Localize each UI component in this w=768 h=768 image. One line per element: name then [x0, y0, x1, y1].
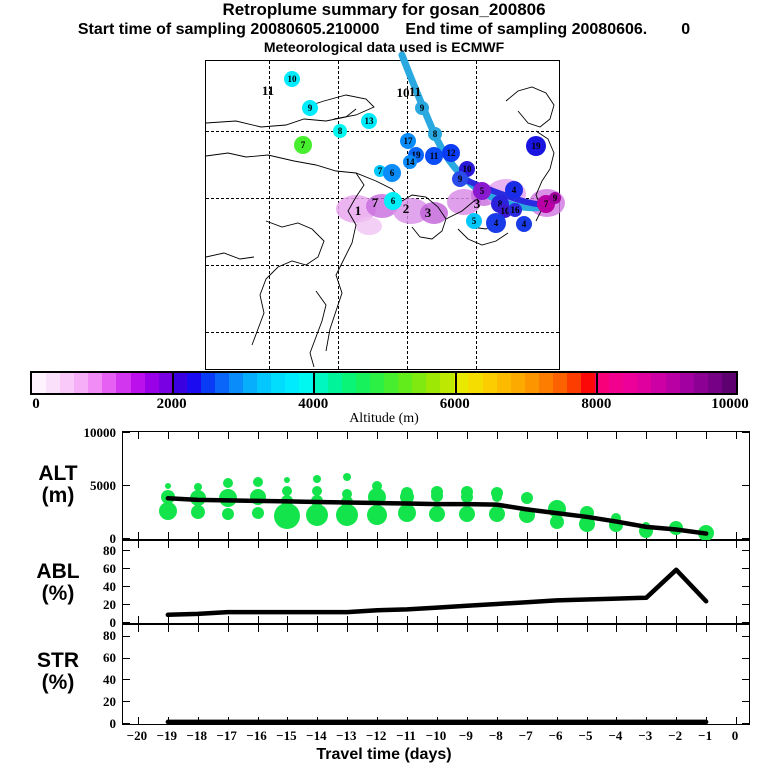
colorbar-swatch [651, 373, 665, 393]
map-day-marker: 12 [442, 144, 460, 162]
x-tick-label: −9 [459, 728, 473, 744]
map-day-label: 11 [262, 83, 274, 99]
x-tick-label: −5 [579, 728, 593, 744]
str-panel [122, 624, 750, 725]
colorbar-swatch [497, 373, 511, 393]
x-tick-label: −14 [306, 728, 326, 744]
map-day-label: 3 [425, 205, 432, 221]
colorbar-swatch [666, 373, 680, 393]
y-tick-label: 40 [68, 672, 116, 688]
y-tick-label: 10000 [68, 425, 116, 441]
colorbar-swatch [187, 373, 201, 393]
colorbar-swatch [708, 373, 722, 393]
map-coastline [206, 253, 254, 259]
map-day-marker: 8 [428, 127, 442, 141]
map-day-marker: 9 [549, 192, 561, 204]
start-time-value: 20080605.210000 [250, 21, 379, 38]
end-time-label: End time of sampling [405, 21, 567, 38]
y-tickmark-right [742, 723, 749, 724]
map-day-marker: 6 [383, 164, 401, 182]
map-day-marker: 16 [508, 203, 522, 217]
map-day-label: 3 [474, 196, 481, 212]
map-day-marker: 4 [486, 213, 506, 233]
colorbar-swatch [229, 373, 243, 393]
map-day-marker: 4 [505, 181, 523, 199]
y-tick-label: 0 [68, 716, 116, 732]
alt-series-layer [123, 432, 748, 538]
y-tick-label: 40 [68, 579, 116, 595]
x-tick-label: −16 [246, 728, 266, 744]
start-time-label: Start time of sampling [78, 21, 246, 38]
x-tick-label: −1 [698, 728, 712, 744]
map-day-label: 2 [403, 201, 410, 217]
colorbar-swatch [511, 373, 525, 393]
page-title: Retroplume summary for gosan_200806 [0, 0, 768, 20]
colorbar-swatch [88, 373, 102, 393]
retroplume-map: 1110981371110981719141112766191095481016… [205, 60, 560, 370]
altitude-colorbar [30, 371, 738, 395]
map-coastline [506, 87, 554, 127]
map-day-label: 11 [409, 84, 421, 100]
colorbar-swatch [370, 373, 384, 393]
x-tick-label: −7 [519, 728, 533, 744]
y-tick-label: 20 [68, 597, 116, 613]
colorbar-swatch [328, 373, 342, 393]
colorbar-swatch [539, 373, 553, 393]
colorbar-swatch [637, 373, 651, 393]
x-tick-label: −15 [276, 728, 296, 744]
y-tick-label: 80 [68, 628, 116, 644]
map-day-marker: 9 [415, 101, 429, 115]
y-tick-label: 80 [68, 543, 116, 559]
colorbar-swatch [257, 373, 271, 393]
end-time-extra: 0 [681, 21, 690, 38]
map-day-marker: 4 [516, 216, 532, 232]
y-tick-label: 60 [68, 561, 116, 577]
map-day-marker: 6 [384, 192, 402, 210]
abl-panel [122, 540, 750, 624]
colorbar-swatch [102, 373, 116, 393]
colorbar-swatch [722, 373, 736, 393]
colorbar-swatch [581, 373, 595, 393]
x-tick-label: −10 [426, 728, 446, 744]
colorbar-swatch [680, 373, 694, 393]
colorbar-swatch [525, 373, 539, 393]
colorbar-swatch [285, 373, 299, 393]
colorbar-swatch [74, 373, 88, 393]
x-tick-label: −11 [396, 728, 416, 744]
colorbar-swatch [412, 373, 426, 393]
colorbar-swatch [271, 373, 285, 393]
colorbar-swatch [623, 373, 637, 393]
map-day-marker: 8 [333, 124, 347, 138]
sampling-time-line: Start time of sampling 20080605.210000En… [0, 20, 768, 39]
map-day-marker: 11 [425, 147, 443, 165]
end-time-value: 20080606. [572, 21, 648, 38]
map-coastline [310, 291, 326, 367]
y-tickmark [123, 538, 130, 539]
x-tick-label: −18 [187, 728, 207, 744]
alt-trend-line [168, 498, 706, 533]
map-day-marker: 19 [526, 136, 546, 156]
x-tick-label: 0 [732, 728, 739, 744]
map-day-marker: 5 [466, 213, 482, 229]
colorbar-separator [455, 371, 457, 395]
colorbar-swatch [426, 373, 440, 393]
colorbar-swatch [32, 373, 46, 393]
abl-trend-line [168, 570, 706, 615]
x-tick-label: −6 [549, 728, 563, 744]
colorbar-swatch [483, 373, 497, 393]
colorbar-separator [313, 371, 315, 395]
colorbar-separator [172, 371, 174, 395]
x-tick-label: −3 [638, 728, 652, 744]
colorbar-swatch [384, 373, 398, 393]
colorbar-gradient [30, 371, 738, 395]
x-tick-label: −2 [668, 728, 682, 744]
colorbar-swatch [314, 373, 328, 393]
colorbar-swatch [694, 373, 708, 393]
alt-panel [122, 431, 750, 540]
x-tick-label: −4 [608, 728, 622, 744]
map-day-marker: 13 [361, 113, 377, 129]
colorbar-swatch [201, 373, 215, 393]
colorbar-swatch [243, 373, 257, 393]
map-day-label: 1 [355, 203, 362, 219]
colorbar-swatch [356, 373, 370, 393]
colorbar-swatch [440, 373, 454, 393]
colorbar-swatch [553, 373, 567, 393]
x-tick-label: −12 [366, 728, 386, 744]
x-tick-label: −17 [216, 728, 236, 744]
y-tickmark [123, 723, 130, 724]
colorbar-swatch [173, 373, 187, 393]
map-day-marker: 14 [403, 155, 417, 169]
abl-series-layer [123, 541, 748, 622]
met-data-line: Meteorological data used is ECMWF [0, 39, 768, 56]
x-tick-label: −13 [336, 728, 356, 744]
colorbar-swatch [215, 373, 229, 393]
x-tick-label: −19 [157, 728, 177, 744]
colorbar-swatch [299, 373, 313, 393]
map-coastline [206, 109, 356, 127]
colorbar-swatch [145, 373, 159, 393]
map-inner: 1110981371110981719141112766191095481016… [206, 61, 559, 369]
colorbar-swatch [116, 373, 130, 393]
y-tickmark-right [742, 538, 749, 539]
map-coastline [252, 221, 324, 345]
y-tickmark-right [742, 622, 749, 623]
colorbar-separator [596, 371, 598, 395]
x-tick-label: −20 [127, 728, 147, 744]
x-axis-title: Travel time (days) [0, 746, 768, 764]
str-series-layer [123, 625, 748, 723]
map-day-marker: 10 [284, 71, 300, 87]
x-tick-label: −8 [489, 728, 503, 744]
map-coastline [206, 153, 402, 201]
colorbar-swatch [468, 373, 482, 393]
plume-footprint-blob [356, 217, 382, 235]
map-day-marker: 9 [302, 100, 318, 116]
colorbar-swatch [398, 373, 412, 393]
title-block: Retroplume summary for gosan_200806 Star… [0, 0, 768, 56]
map-day-label: 7 [372, 195, 379, 211]
colorbar-swatch [60, 373, 74, 393]
map-day-marker: 9 [452, 171, 468, 187]
colorbar-swatch [567, 373, 581, 393]
colorbar-swatch [342, 373, 356, 393]
map-day-marker: 7 [294, 136, 312, 154]
y-tick-label: 60 [68, 650, 116, 666]
colorbar-swatch [131, 373, 145, 393]
colorbar-swatch [609, 373, 623, 393]
y-tick-label: 20 [68, 694, 116, 710]
colorbar-swatch [46, 373, 60, 393]
map-day-label: 10 [397, 85, 410, 101]
y-tick-label: 5000 [68, 478, 116, 494]
y-tickmark [123, 622, 130, 623]
